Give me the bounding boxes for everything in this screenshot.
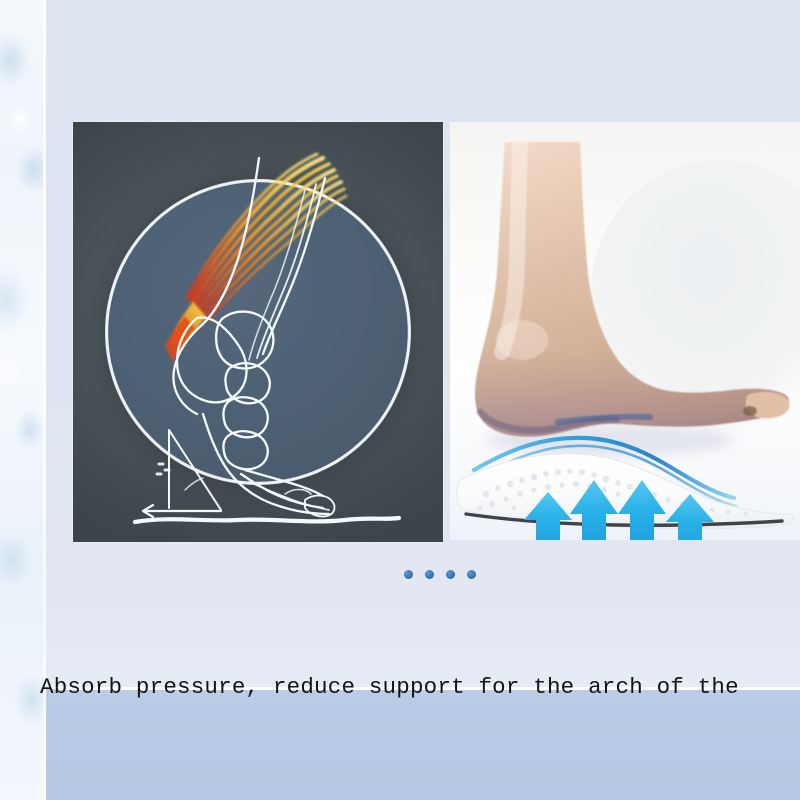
toe-detail bbox=[743, 406, 757, 416]
bare-foot-profile bbox=[475, 142, 790, 437]
foot-on-insole-photo bbox=[450, 122, 800, 540]
anatomy-line-art bbox=[73, 122, 443, 542]
ankle-achilles-anatomy-illustration bbox=[73, 122, 443, 542]
caption-text: Absorb pressure, reduce support for the … bbox=[40, 585, 800, 800]
dot-4 bbox=[467, 570, 476, 579]
dot-2 bbox=[425, 570, 434, 579]
dot-3 bbox=[446, 570, 455, 579]
product-feature-banner: Absorb pressure, reduce support for the … bbox=[0, 0, 800, 800]
caption-line-2: foot, and alleviate exercise fatigue bbox=[40, 790, 800, 800]
dot-1 bbox=[404, 570, 413, 579]
orthotic-insole bbox=[457, 454, 794, 529]
decorative-dot-row bbox=[404, 570, 476, 579]
foot-and-insole-graphic bbox=[450, 122, 800, 540]
caption-line-1: Absorb pressure, reduce support for the … bbox=[40, 667, 800, 708]
